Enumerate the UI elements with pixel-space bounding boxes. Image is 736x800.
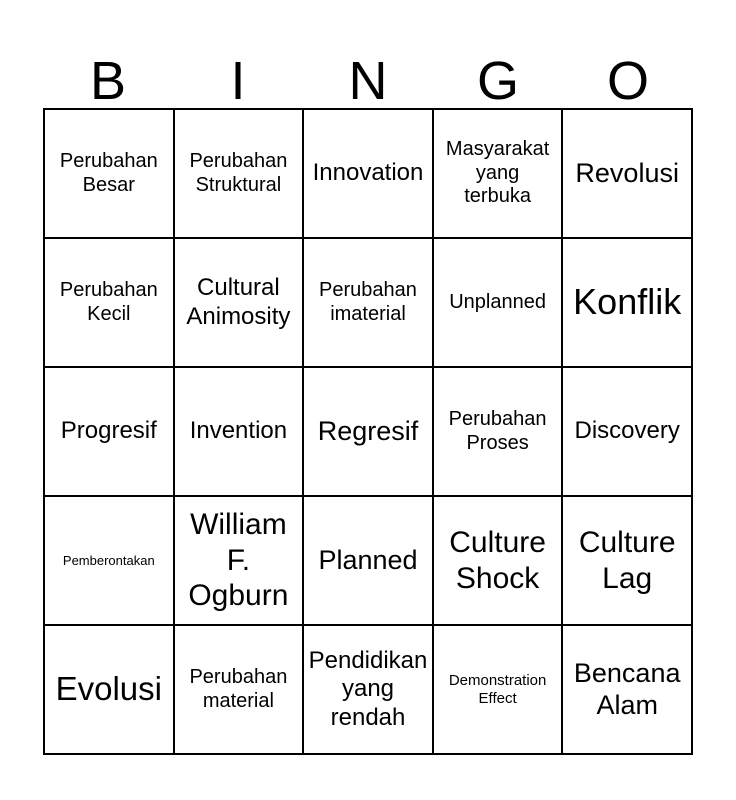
bingo-cell-label: Regresif xyxy=(308,416,428,448)
bingo-cell-label: Perubahan Besar xyxy=(49,150,169,197)
bingo-cell-label: William F. Ogburn xyxy=(179,507,299,613)
bingo-cell-label: Pendidikan yang rendah xyxy=(308,647,428,732)
bingo-cell[interactable]: Cultural Animosity xyxy=(175,239,305,368)
bingo-cell[interactable]: Culture Shock xyxy=(434,497,564,626)
bingo-cell-label: Revolusi xyxy=(567,158,687,190)
bingo-cell[interactable]: Progresif xyxy=(45,368,175,497)
bingo-header-letter-g: G xyxy=(433,54,563,108)
bingo-cell-label: Culture Shock xyxy=(438,525,558,596)
bingo-header-letter-b: B xyxy=(43,54,173,108)
bingo-cell-label: Planned xyxy=(308,545,428,577)
bingo-cell-label: Progresif xyxy=(49,417,169,445)
bingo-cell[interactable]: Perubahan Kecil xyxy=(45,239,175,368)
bingo-cell[interactable]: Discovery xyxy=(563,368,693,497)
bingo-cell[interactable]: Pemberontakan xyxy=(45,497,175,626)
bingo-cell[interactable]: Culture Lag xyxy=(563,497,693,626)
bingo-grid: Perubahan BesarPerubahan StrukturalInnov… xyxy=(43,108,693,755)
bingo-cell-label: Unplanned xyxy=(438,291,558,315)
bingo-cell[interactable]: Demonstration Effect xyxy=(434,626,564,755)
bingo-cell[interactable]: Planned xyxy=(304,497,434,626)
bingo-cell-label: Perubahan imaterial xyxy=(308,279,428,326)
bingo-cell-label: Pemberontakan xyxy=(49,553,169,568)
bingo-cell[interactable]: Konflik xyxy=(563,239,693,368)
bingo-cell[interactable]: Unplanned xyxy=(434,239,564,368)
bingo-cell-label: Perubahan Kecil xyxy=(49,279,169,326)
bingo-cell-label: Culture Lag xyxy=(567,525,687,596)
bingo-cell[interactable]: Perubahan Struktural xyxy=(175,110,305,239)
bingo-cell[interactable]: Innovation xyxy=(304,110,434,239)
bingo-cell[interactable]: Perubahan Besar xyxy=(45,110,175,239)
bingo-cell[interactable]: Masyarakat yang terbuka xyxy=(434,110,564,239)
bingo-cell[interactable]: Regresif xyxy=(304,368,434,497)
bingo-header-letter-n: N xyxy=(303,54,433,108)
bingo-header-row: B I N G O xyxy=(43,28,693,108)
bingo-cell[interactable]: Evolusi xyxy=(45,626,175,755)
bingo-cell-label: Konflik xyxy=(567,281,687,323)
bingo-header-letter-i: I xyxy=(173,54,303,108)
bingo-cell[interactable]: Invention xyxy=(175,368,305,497)
bingo-cell[interactable]: Pendidikan yang rendah xyxy=(304,626,434,755)
bingo-cell-label: Innovation xyxy=(308,159,428,187)
bingo-cell[interactable]: Revolusi xyxy=(563,110,693,239)
bingo-cell[interactable]: William F. Ogburn xyxy=(175,497,305,626)
bingo-cell[interactable]: Perubahan Proses xyxy=(434,368,564,497)
bingo-cell-label: Cultural Animosity xyxy=(179,274,299,331)
bingo-cell-label: Bencana Alam xyxy=(567,658,687,722)
bingo-card: B I N G O Perubahan BesarPerubahan Struk… xyxy=(0,0,736,800)
bingo-cell[interactable]: Perubahan material xyxy=(175,626,305,755)
bingo-header-letter-o: O xyxy=(563,54,693,108)
bingo-cell-label: Discovery xyxy=(567,417,687,445)
bingo-cell-label: Invention xyxy=(179,417,299,445)
bingo-cell-label: Evolusi xyxy=(49,670,169,709)
bingo-cell[interactable]: Bencana Alam xyxy=(563,626,693,755)
bingo-cell-label: Masyarakat yang terbuka xyxy=(438,138,558,209)
bingo-cell-label: Perubahan Struktural xyxy=(179,150,299,197)
bingo-cell-label: Perubahan Proses xyxy=(438,408,558,455)
bingo-cell-label: Demonstration Effect xyxy=(438,672,558,707)
bingo-cell-label: Perubahan material xyxy=(179,666,299,713)
bingo-cell[interactable]: Perubahan imaterial xyxy=(304,239,434,368)
